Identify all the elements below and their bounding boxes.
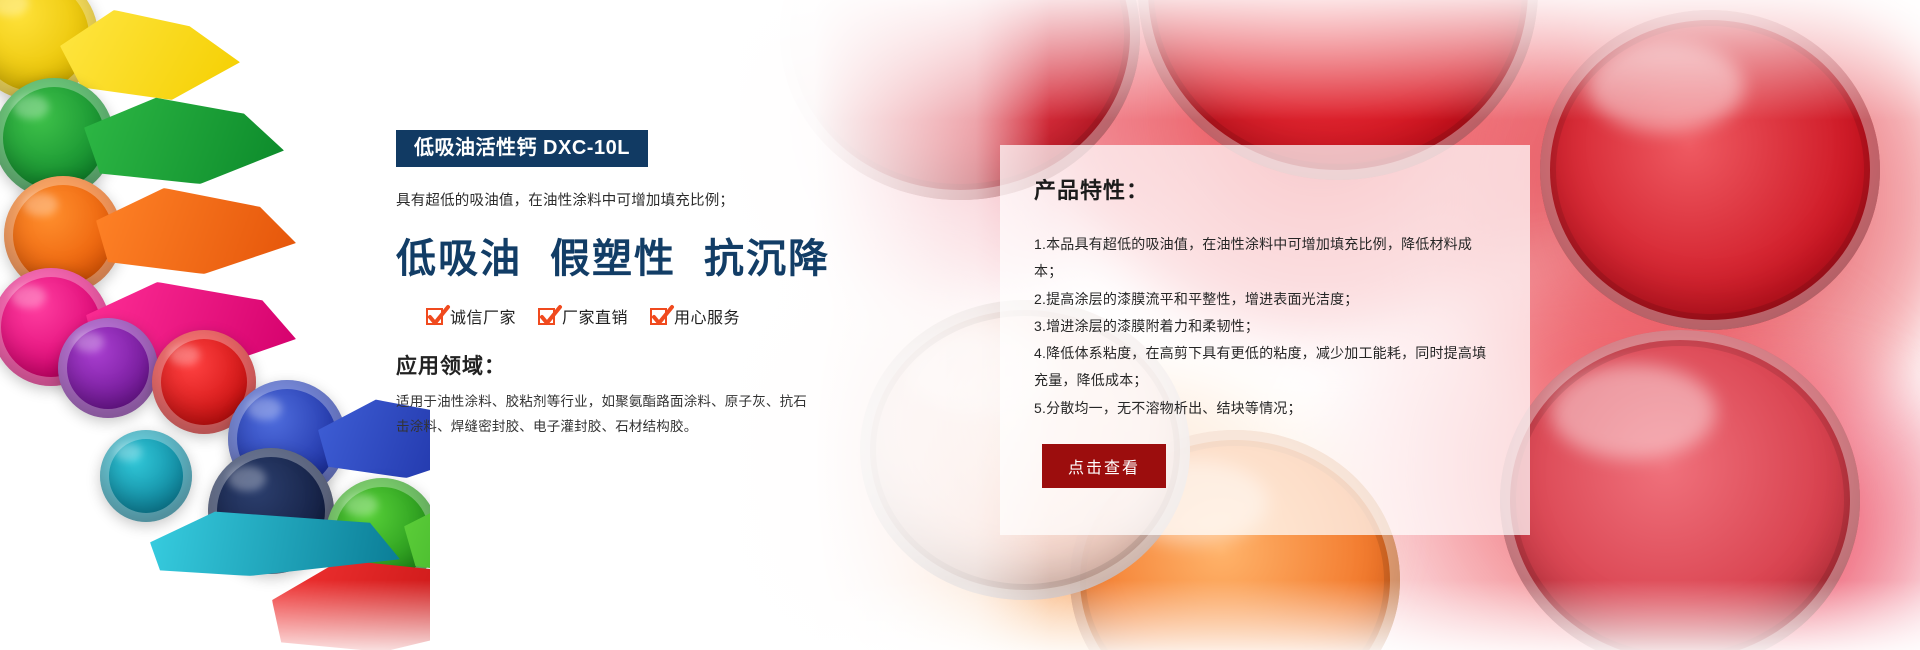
trust-badge-label: 诚信厂家: [450, 304, 516, 328]
paint-smear-red-bottom: [272, 556, 502, 650]
paint-pot-lime: [326, 478, 438, 590]
checkbox-checked-icon: [426, 308, 443, 325]
trust-badge: 用心服务: [650, 304, 740, 328]
checkbox-checked-icon: [538, 308, 555, 325]
view-details-button[interactable]: 点击查看: [1042, 444, 1166, 488]
checkbox-checked-icon: [650, 308, 667, 325]
paint-smear-yellow: [60, 10, 240, 100]
headline-feature-1: 低吸油: [396, 236, 522, 281]
product-headline: 低吸油假塑性抗沉降: [396, 226, 996, 284]
features-panel-title: 产品特性：: [1034, 173, 1496, 205]
paint-smear-green: [84, 96, 284, 184]
feature-item: 2.提高涂层的漆膜流平和平整性，增进表面光洁度；: [1034, 286, 1496, 313]
paint-pot-green: [0, 78, 114, 198]
left-content-column: 低吸油活性钙 DXC-10L 具有超低的吸油值，在油性涂料中可增加填充比例； 低…: [396, 130, 996, 440]
paint-pot-orange: [4, 176, 122, 294]
paint-smear-lime: [404, 492, 594, 578]
paint-streak-cyan: [150, 506, 400, 576]
trust-badge-label: 用心服务: [674, 304, 740, 328]
trust-badge: 诚信厂家: [426, 304, 516, 328]
feature-item: 1.本品具有超低的吸油值，在油性涂料中可增加填充比例，降低材料成本；: [1034, 231, 1496, 286]
paint-pot-yellow: [0, 0, 98, 100]
paint-pot-cyan: [100, 430, 192, 522]
feature-item: 4.降低体系粘度，在高剪下具有更低的粘度，减少加工能耗，同时提高填充量，降低成本…: [1034, 340, 1496, 395]
headline-feature-2: 假塑性: [550, 236, 676, 281]
paint-pot-navy: [208, 448, 334, 574]
paint-pot-red: [152, 330, 256, 434]
trust-badge-label: 厂家直销: [562, 304, 628, 328]
product-features-panel: 产品特性： 1.本品具有超低的吸油值，在油性涂料中可增加填充比例，降低材料成本；…: [1000, 145, 1530, 535]
trust-badge-row: 诚信厂家 厂家直销 用心服务: [426, 304, 996, 328]
top-fade-overlay: [560, 0, 1920, 120]
application-section-title: 应用领域：: [396, 350, 996, 380]
paint-smear-orange: [96, 188, 296, 274]
paint-wash-magenta: [1570, 360, 1920, 650]
banner-stage: 低吸油活性钙 DXC-10L 具有超低的吸油值，在油性涂料中可增加填充比例； 低…: [0, 0, 1920, 650]
product-subtitle: 具有超低的吸油值，在油性涂料中可增加填充比例；: [396, 189, 996, 210]
paint-pot-blue: [228, 380, 346, 498]
paint-pot-purple: [58, 318, 158, 418]
feature-item: 3.增进涂层的漆膜附着力和柔韧性；: [1034, 313, 1496, 340]
feature-item: 5.分散均一，无不溶物析出、结块等情况；: [1034, 395, 1496, 422]
paint-pan-right-lower: [1500, 330, 1860, 650]
headline-feature-3: 抗沉降: [704, 236, 830, 281]
application-section-body: 适用于油性涂料、胶粘剂等行业，如聚氨酯路面涂料、原子灰、抗石击涂料、焊缝密封胶、…: [396, 390, 816, 440]
paint-smear-magenta: [86, 282, 296, 374]
paint-pan-right-upper: [1540, 10, 1880, 330]
product-title-banner: 低吸油活性钙 DXC-10L: [396, 130, 648, 167]
bottom-fade-overlay: [0, 580, 1920, 650]
features-list: 1.本品具有超低的吸油值，在油性涂料中可增加填充比例，降低材料成本； 2.提高涂…: [1034, 231, 1496, 422]
trust-badge: 厂家直销: [538, 304, 628, 328]
paint-pot-magenta: [0, 268, 110, 386]
